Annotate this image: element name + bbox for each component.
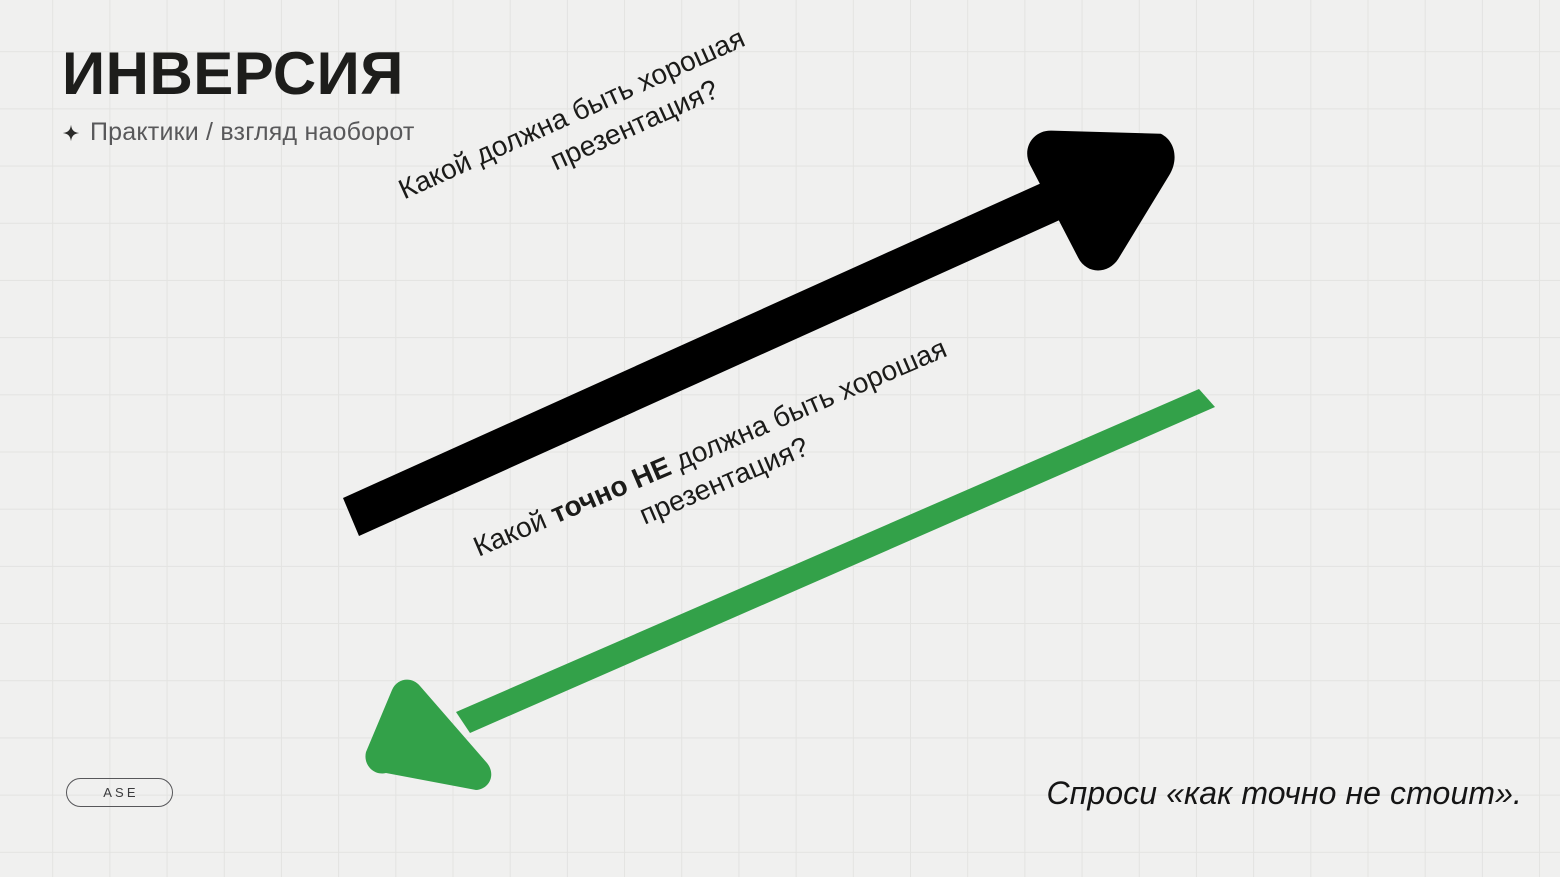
negative-arrow-head bbox=[365, 680, 491, 790]
positive-arrow-head bbox=[1025, 118, 1186, 277]
slide-canvas: ИНВЕРСИЯ Практики / взгляд наоборот Како… bbox=[0, 0, 1560, 877]
brand-badge: ASE bbox=[66, 778, 173, 807]
slide-caption: Спроси «как точно не стоит». bbox=[1046, 775, 1522, 812]
brand-badge-label: ASE bbox=[100, 785, 139, 800]
